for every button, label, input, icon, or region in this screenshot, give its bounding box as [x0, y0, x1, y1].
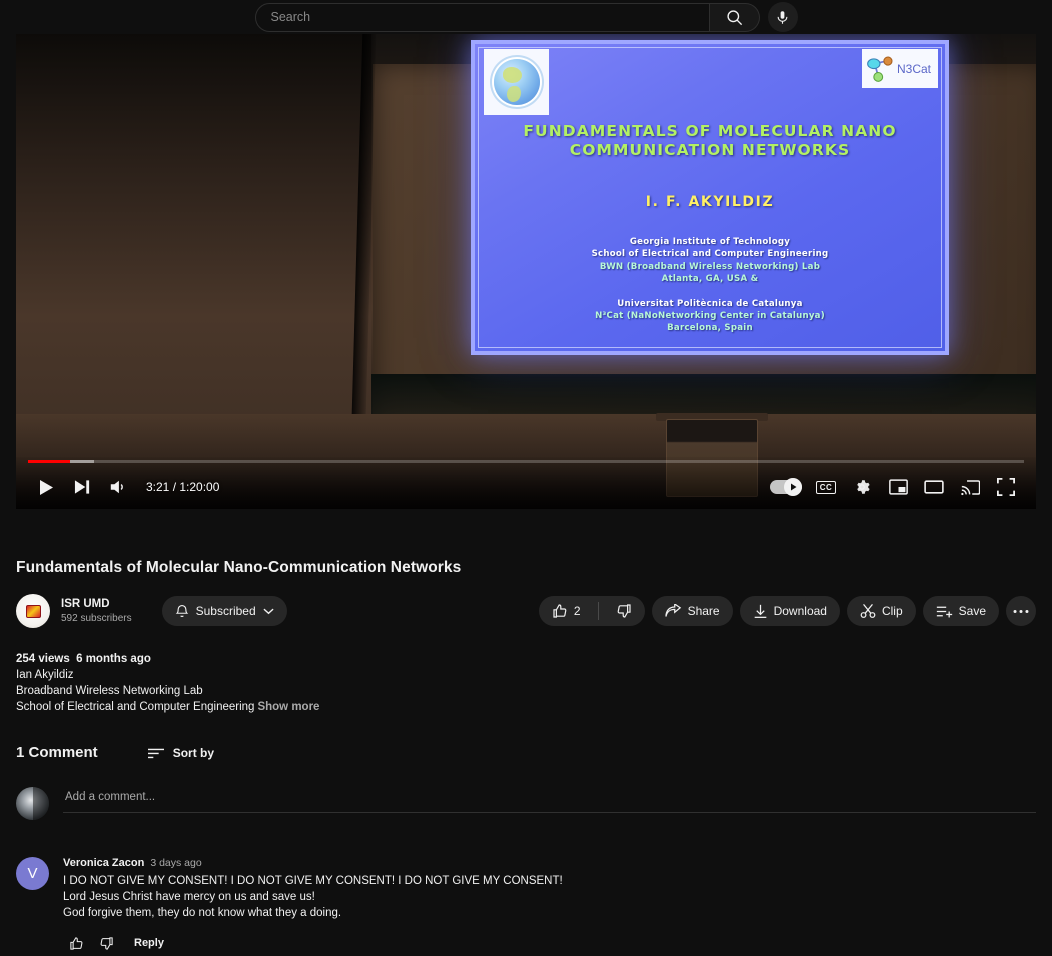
affil2-line-3: Barcelona, Spain — [475, 322, 945, 334]
clip-button[interactable]: Clip — [847, 596, 916, 626]
share-icon — [665, 604, 682, 619]
n3cat-label: N3Cat — [897, 62, 931, 76]
download-button[interactable]: Download — [740, 596, 840, 626]
share-label: Share — [688, 604, 720, 618]
fullscreen-button[interactable] — [988, 469, 1024, 505]
presentation-slide: N3Cat FUNDAMENTALS OF MOLECULAR NANO COM… — [471, 40, 949, 355]
chevron-down-icon — [263, 607, 274, 615]
play-icon — [38, 479, 54, 496]
like-dislike-group: 2 — [539, 596, 645, 626]
theater-mode-button[interactable] — [916, 469, 952, 505]
miniplayer-icon — [889, 479, 908, 495]
autoplay-play-icon — [790, 483, 797, 491]
cast-icon — [961, 479, 980, 496]
volume-icon — [109, 479, 127, 495]
channel-logo-icon — [26, 605, 41, 618]
sort-icon — [148, 747, 164, 759]
description-stats: 254 views 6 months ago — [16, 651, 1036, 667]
masthead — [0, 0, 1052, 34]
current-user-avatar[interactable] — [16, 787, 49, 820]
add-comment-row — [16, 787, 1036, 820]
search-input[interactable] — [271, 4, 709, 31]
description-last-line: School of Electrical and Computer Engine… — [16, 699, 1036, 715]
scissors-icon — [860, 603, 876, 619]
subscribed-label: Subscribed — [196, 604, 256, 618]
like-button[interactable]: 2 — [539, 596, 592, 626]
fullscreen-icon — [997, 478, 1015, 496]
more-actions-button[interactable] — [1006, 596, 1036, 626]
microphone-icon — [775, 10, 790, 25]
channel-avatar[interactable] — [16, 594, 50, 628]
affil-line-4: Atlanta, GA, USA & — [475, 273, 945, 285]
captions-button[interactable]: CC — [808, 469, 844, 505]
controls-row: 3:21 / 1:20:00 CC — [16, 465, 1036, 509]
comment-text-line-3: God forgive them, they do not know what … — [63, 905, 563, 921]
comment-text-line-2: Lord Jesus Christ have mercy on us and s… — [63, 889, 563, 905]
progress-played — [28, 460, 70, 463]
molecule-icon — [865, 54, 895, 84]
dislike-button[interactable] — [605, 596, 645, 626]
autoplay-knob — [784, 478, 802, 496]
comment-body: Veronica Zacon 3 days ago I DO NOT GIVE … — [63, 857, 563, 956]
comment-actions: Reply — [63, 930, 563, 956]
search-box[interactable] — [255, 3, 710, 32]
affil2-line-1: Universitat Politècnica de Catalunya — [475, 298, 945, 310]
comments-header: 1 Comment Sort by — [16, 744, 1036, 761]
search-icon — [725, 8, 744, 27]
comment-text-line-1: I DO NOT GIVE MY CONSENT! I DO NOT GIVE … — [63, 873, 563, 889]
owner-row: ISR UMD 592 subscribers Subscribed 2 — [16, 593, 1036, 629]
slide-title: FUNDAMENTALS OF MOLECULAR NANO COMMUNICA… — [475, 122, 945, 160]
comment-text: I DO NOT GIVE MY CONSENT! I DO NOT GIVE … — [63, 873, 563, 921]
commenter-avatar[interactable]: V — [16, 857, 49, 890]
clip-label: Clip — [882, 604, 903, 618]
save-label: Save — [959, 604, 986, 618]
next-video-button[interactable] — [64, 469, 100, 505]
search-bar — [255, 2, 798, 32]
save-button[interactable]: Save — [923, 596, 999, 626]
download-icon — [753, 604, 768, 619]
view-count: 254 views — [16, 653, 70, 665]
voice-search-button[interactable] — [768, 2, 798, 32]
page-title: Fundamentals of Molecular Nano-Communica… — [16, 559, 1036, 577]
progress-bar[interactable] — [28, 460, 1024, 463]
affil-gap — [475, 286, 945, 298]
thumbs-up-icon — [552, 603, 568, 619]
sort-by-button[interactable]: Sort by — [148, 746, 214, 760]
description-line-2: Broadband Wireless Networking Lab — [16, 683, 1036, 699]
search-button[interactable] — [710, 3, 760, 32]
subscriber-count: 592 subscribers — [61, 612, 132, 626]
sort-by-label: Sort by — [173, 746, 214, 760]
slide-affiliation: Georgia Institute of Technology School o… — [475, 236, 945, 335]
comment-timestamp[interactable]: 3 days ago — [150, 857, 201, 869]
description-line-3: School of Electrical and Computer Engine… — [16, 701, 254, 713]
channel-name[interactable]: ISR UMD — [61, 597, 132, 611]
comments-section: 1 Comment Sort by V Veronica Zacon 3 day… — [16, 744, 1036, 956]
cc-icon: CC — [816, 481, 837, 494]
autoplay-switch[interactable] — [770, 480, 802, 494]
subscribed-button[interactable]: Subscribed — [162, 596, 287, 626]
comment-like-button[interactable] — [63, 930, 89, 956]
settings-button[interactable] — [844, 469, 880, 505]
add-comment-field-wrap — [63, 787, 1036, 813]
miniplayer-button[interactable] — [880, 469, 916, 505]
thumbs-down-icon — [616, 603, 632, 619]
video-actions: 2 Share Downlo — [539, 596, 1036, 626]
like-divider — [598, 602, 599, 620]
bell-icon — [175, 604, 189, 619]
slide-author: I. F. AKYILDIZ — [475, 194, 945, 210]
comment-count: 1 Comment — [16, 744, 98, 761]
volume-button[interactable] — [100, 469, 136, 505]
publish-date: 6 months ago — [76, 653, 151, 665]
globe-icon — [494, 59, 540, 105]
thumbs-up-icon — [69, 936, 84, 951]
player-controls: 3:21 / 1:20:00 CC — [16, 457, 1036, 509]
thumbs-down-icon — [99, 936, 114, 951]
like-count: 2 — [574, 604, 581, 618]
time-display: 3:21 / 1:20:00 — [146, 480, 219, 494]
comment-header: Veronica Zacon 3 days ago — [63, 857, 563, 869]
bwn-globe-logo-icon — [484, 49, 549, 115]
share-button[interactable]: Share — [652, 596, 733, 626]
more-horizontal-icon — [1013, 609, 1029, 614]
show-more-button[interactable]: Show more — [257, 701, 319, 713]
video-description[interactable]: 254 views 6 months ago Ian Akyildiz Broa… — [16, 651, 1036, 715]
cast-button[interactable] — [952, 469, 988, 505]
play-button[interactable] — [28, 469, 64, 505]
description-line-1: Ian Akyildiz — [16, 667, 1036, 683]
video-info-section: Fundamentals of Molecular Nano-Communica… — [16, 509, 1036, 956]
theater-icon — [924, 479, 944, 495]
affil-line-1: Georgia Institute of Technology — [475, 236, 945, 248]
affil-line-2: School of Electrical and Computer Engine… — [475, 248, 945, 260]
n3cat-logo: N3Cat — [862, 49, 938, 88]
download-label: Download — [774, 604, 827, 618]
add-comment-input[interactable] — [63, 791, 1036, 813]
comment-reply-button[interactable]: Reply — [134, 937, 164, 949]
comment-author[interactable]: Veronica Zacon — [63, 857, 144, 869]
save-list-icon — [936, 604, 953, 619]
autoplay-toggle[interactable] — [764, 469, 808, 505]
video-player[interactable]: N3Cat FUNDAMENTALS OF MOLECULAR NANO COM… — [16, 34, 1036, 509]
slide-title-line-1: FUNDAMENTALS OF MOLECULAR NANO — [475, 122, 945, 141]
affil2-line-2: N³Cat (NaNoNetworking Center in Cataluny… — [475, 310, 945, 322]
affil-line-3: BWN (Broadband Wireless Networking) Lab — [475, 261, 945, 273]
next-icon — [74, 479, 91, 495]
gear-icon — [853, 478, 871, 496]
channel-meta: ISR UMD 592 subscribers — [61, 597, 132, 626]
slide-title-line-2: COMMUNICATION NETWORKS — [475, 141, 945, 160]
comment-thread: V Veronica Zacon 3 days ago I DO NOT GIV… — [16, 857, 1036, 956]
comment-dislike-button[interactable] — [93, 930, 119, 956]
